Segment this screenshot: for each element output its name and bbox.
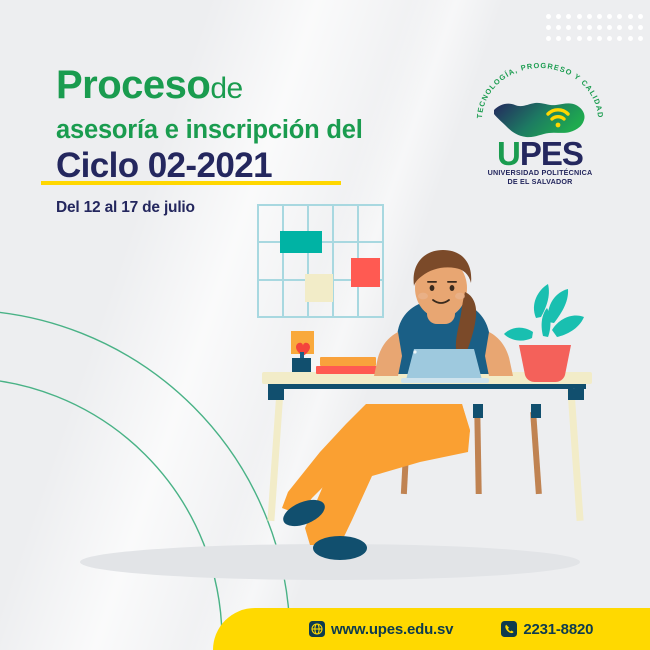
red-note xyxy=(351,258,380,287)
person-blush-right xyxy=(455,293,465,300)
desk-edge xyxy=(268,384,586,389)
book-orange xyxy=(320,357,376,366)
footer-contact-bar: www.upes.edu.sv 2231-8820 xyxy=(213,608,650,650)
desk-leg-bracket-left xyxy=(268,389,284,400)
website-label: www.upes.edu.sv xyxy=(331,621,453,638)
person-blush-left xyxy=(418,293,428,300)
illustration-student-at-desk xyxy=(0,0,650,650)
desk-leg-bracket-right xyxy=(568,389,584,400)
footer-phone[interactable]: 2231-8820 xyxy=(501,621,593,638)
person-arm-right xyxy=(485,332,513,376)
phone-icon xyxy=(501,621,517,637)
desk-leg-left xyxy=(267,389,283,521)
teal-note xyxy=(280,231,322,253)
poster-canvas: Procesode asesoría e inscripción del Cic… xyxy=(0,0,650,650)
book-red xyxy=(316,366,378,374)
globe-icon xyxy=(309,621,325,637)
footer-website[interactable]: www.upes.edu.sv xyxy=(309,621,453,638)
person-shoe-right xyxy=(313,536,367,560)
cream-note xyxy=(305,274,333,302)
laptop-screen xyxy=(406,349,482,380)
person-arm-left xyxy=(374,332,402,376)
phone-label: 2231-8820 xyxy=(523,621,593,638)
desk-plant xyxy=(504,284,584,382)
laptop-camera-icon xyxy=(413,350,416,353)
desk-lamp xyxy=(291,331,314,372)
laptop-base xyxy=(401,378,489,383)
desk-leg-right xyxy=(567,389,583,521)
